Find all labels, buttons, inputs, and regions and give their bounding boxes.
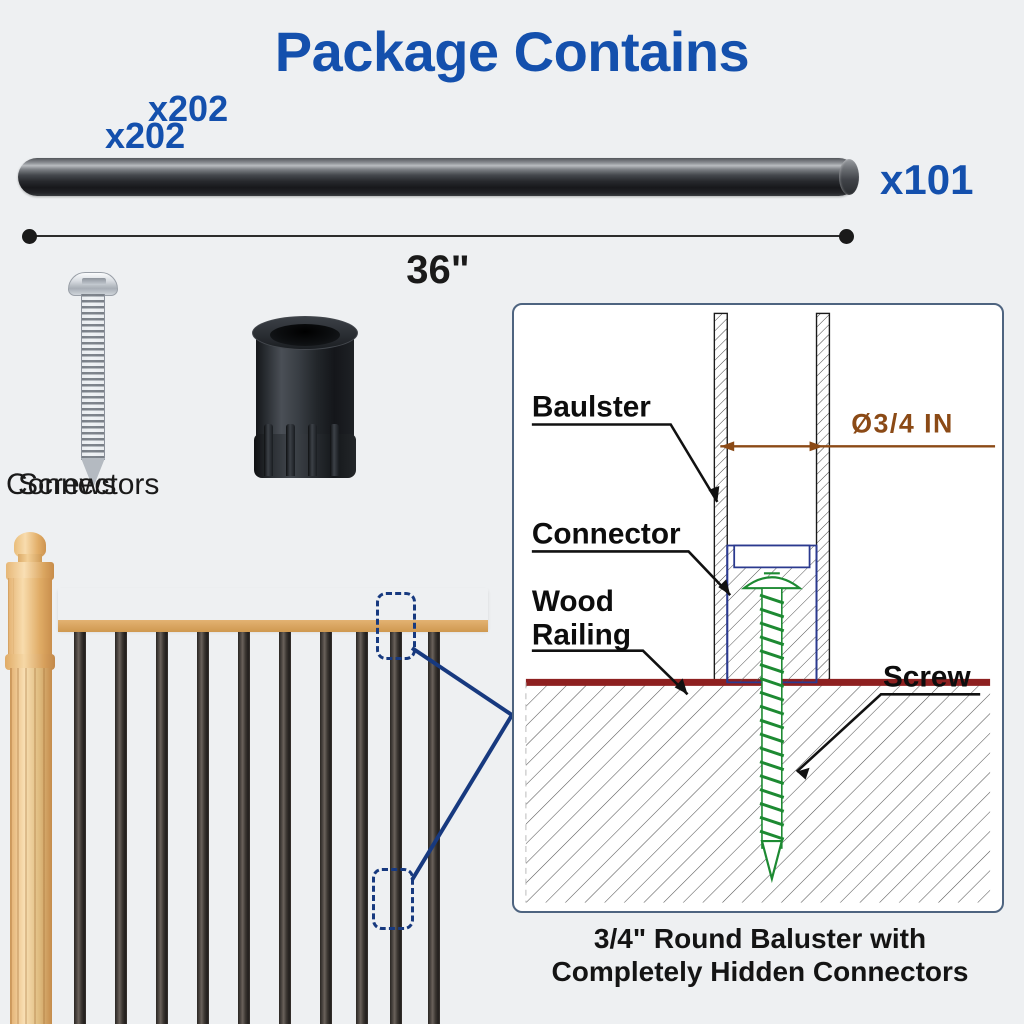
baluster-rod-count: x101 (880, 156, 973, 204)
diagram-caption: 3/4" Round Baluster with Completely Hidd… (500, 922, 1020, 988)
diagram-label-wood-railing-1: Wood (532, 585, 614, 618)
baluster (197, 627, 209, 1024)
connector-item (240, 300, 480, 515)
screw-threaded-shaft (81, 294, 105, 460)
dimension-endpoint-right (839, 229, 854, 244)
screw-head-slot (82, 278, 106, 285)
connector-rib (286, 424, 295, 476)
railing-photo (0, 528, 500, 1024)
baluster (238, 627, 250, 1024)
connector-label: Connectors (6, 468, 159, 502)
svg-text:Ø3/4 IN: Ø3/4 IN (851, 408, 954, 438)
baluster (428, 627, 440, 1024)
dimension-endpoint-left (22, 229, 37, 244)
top-rail-lip (58, 620, 488, 632)
connector-bore (270, 324, 340, 346)
connector-sleeve-icon (250, 316, 360, 476)
caption-line-1: 3/4" Round Baluster with (500, 922, 1020, 955)
callout-box-bottom (372, 868, 414, 930)
baluster (356, 627, 368, 1024)
screw-head (68, 272, 118, 296)
newel-upper-block (8, 578, 52, 658)
callout-box-top (376, 592, 416, 660)
diagram-label-screw: Screw (883, 660, 972, 693)
newel-fluted-shaft (10, 668, 52, 1024)
baluster (320, 627, 332, 1024)
dimension-line (28, 235, 848, 237)
baluster (115, 627, 127, 1024)
baluster (279, 627, 291, 1024)
diagram-label-connector: Connector (532, 518, 681, 551)
page-title: Package Contains (0, 24, 1024, 80)
rod-end-cap (839, 159, 859, 195)
connector-rib (264, 424, 273, 476)
baluster (74, 627, 86, 1024)
newel-post (4, 528, 56, 1024)
connector-count: x202 (148, 88, 228, 130)
connector-rib (308, 424, 317, 476)
technical-diagram-panel: Ø3/4 IN (512, 303, 1004, 913)
metal-rod-icon (18, 158, 858, 196)
connector-rib (330, 424, 339, 476)
baluster-rod-image (18, 158, 858, 198)
diagram-label-wood-railing-2: Railing (532, 619, 631, 652)
caption-line-2: Completely Hidden Connectors (500, 955, 1020, 988)
baluster (156, 627, 168, 1024)
screw-icon (68, 272, 118, 492)
cross-section-drawing: Ø3/4 IN (514, 305, 1002, 911)
baluster (390, 627, 402, 1024)
infographic-canvas: Package Contains x101 36" x202 Screws (0, 0, 1024, 1024)
diagram-label-baluster: Baulster (532, 391, 651, 424)
